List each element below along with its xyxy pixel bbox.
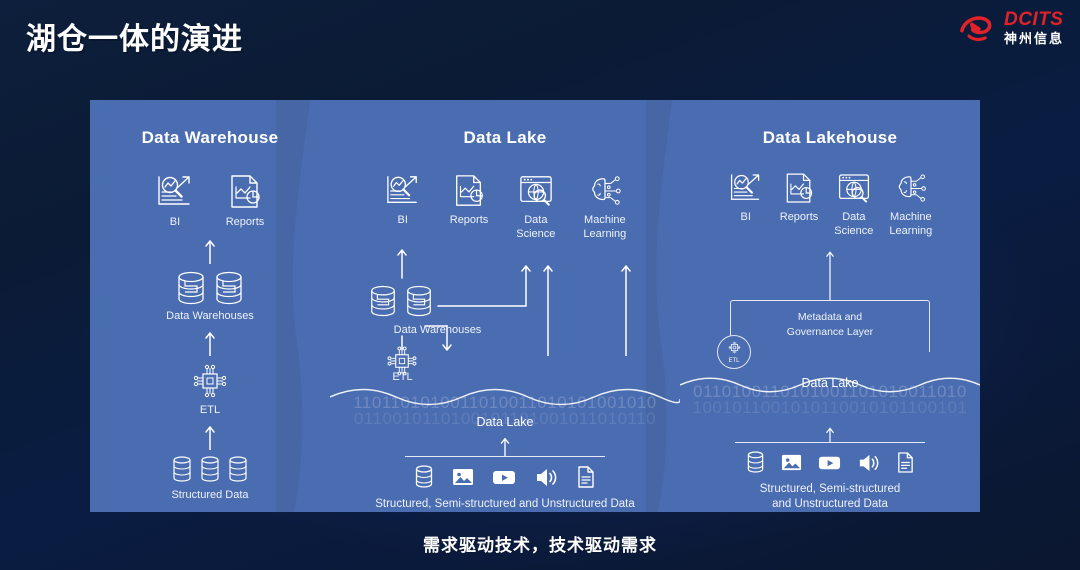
consumer-label: Reports <box>450 214 489 228</box>
lakehouse-evolution-diagram: Data Warehouse BI <box>90 100 980 512</box>
data-science-globe-icon <box>836 172 872 205</box>
etl-label-dw: ETL <box>200 404 220 416</box>
database-cylinder-icon <box>414 465 434 489</box>
source-caption-dl: Structured, Semi-structured and Unstruct… <box>375 497 635 512</box>
logo-cn-text: 神州信息 <box>1004 32 1064 45</box>
bi-chart-magnifier-icon <box>155 174 195 210</box>
audio-speaker-icon <box>534 465 558 489</box>
metadata-and-lake: Metadata and Governance Layer ETL <box>680 300 980 426</box>
metadata-line-1: Metadata and <box>747 310 913 325</box>
data-lake-water: 1101101010011010011010101001010 01100101… <box>330 387 680 435</box>
data-lake-connectors: Data Warehouses <box>330 244 680 343</box>
consumer-label: BI <box>741 211 751 225</box>
consumer-label: MachineLearning <box>889 211 932 239</box>
consumer-bi: BI <box>728 172 764 225</box>
storage-label-dl: Data Warehouses <box>330 324 545 336</box>
storage-label-dw: Data Warehouses <box>166 310 254 322</box>
etl-badge-label: ETL <box>728 357 739 366</box>
data-lake-water-dlh: 0110100110101001101010011010 10010110010… <box>680 376 980 426</box>
database-cylinder-icon <box>172 456 192 482</box>
database-stack-icon <box>368 284 398 318</box>
database-cylinder-icon <box>200 456 220 482</box>
etl-chip-icon <box>385 344 419 378</box>
consumer-bi: BI <box>384 174 422 228</box>
page-title: 湖仓一体的演进 <box>26 14 243 58</box>
report-document-icon <box>450 174 488 208</box>
document-icon <box>576 465 596 489</box>
metadata-line-2: Governance Layer <box>747 325 913 340</box>
lake-label-dlh: Data Lake <box>680 376 980 390</box>
column-title-data-lakehouse: Data Lakehouse <box>763 128 898 148</box>
arrow-up-icon <box>204 330 216 356</box>
consumer-label: MachineLearning <box>583 214 626 242</box>
database-cylinder-icon <box>746 451 765 474</box>
footer-tagline: 需求驱动技术，技术驱动需求 <box>0 531 1080 556</box>
consumer-machine-learning: MachineLearning <box>889 172 932 239</box>
consumer-label: DataScience <box>834 211 873 239</box>
consumer-label: Reports <box>226 216 265 230</box>
video-icon <box>818 451 841 474</box>
source-caption-dlh-line1: Structured, Semi-structured <box>760 482 901 497</box>
metadata-governance-box: Metadata and Governance Layer ETL <box>730 300 930 352</box>
database-stack-icon <box>213 270 245 306</box>
arrow-up-icon <box>204 238 216 264</box>
consumer-reports: Reports <box>450 174 489 228</box>
column-data-lakehouse: Data Lakehouse BI <box>680 100 980 512</box>
etl-chip-icon <box>191 362 229 400</box>
source-caption-dlh-line2: and Unstructured Data <box>772 497 888 512</box>
source-bar-dl <box>405 456 605 457</box>
consumer-label: DataScience <box>516 214 555 242</box>
arrow-up-icon <box>824 426 836 442</box>
image-icon <box>452 465 474 489</box>
consumer-data-science: DataScience <box>834 172 873 239</box>
etl-badge: ETL <box>717 335 751 369</box>
consumer-label: Reports <box>780 211 819 225</box>
arrow-up-icon <box>204 424 216 450</box>
machine-learning-brain-icon <box>893 172 929 205</box>
consumer-icons-dlh: BI Reports <box>728 172 933 239</box>
consumer-reports: Reports <box>780 172 819 225</box>
consumer-machine-learning: MachineLearning <box>583 174 626 242</box>
report-document-icon <box>225 174 265 210</box>
column-title-data-warehouse: Data Warehouse <box>142 128 279 148</box>
source-icons-dw <box>172 456 248 482</box>
storage-icons-dw <box>175 270 245 306</box>
source-bar-dlh <box>735 442 925 443</box>
consumer-icons-dw: BI Reports <box>155 174 265 230</box>
bi-chart-magnifier-icon <box>384 174 422 208</box>
report-document-icon <box>781 172 817 205</box>
brand-logo: DCITS 神州信息 <box>958 10 1064 45</box>
consumer-bi: BI <box>155 174 195 230</box>
consumer-icons-dl: BI Reports <box>384 174 627 242</box>
source-icons-dl <box>414 465 596 489</box>
etl-chip-icon <box>726 339 743 356</box>
column-data-lake: Data Lake BI <box>330 100 680 512</box>
database-cylinder-icon <box>228 456 248 482</box>
document-icon <box>896 451 915 474</box>
bi-chart-magnifier-icon <box>728 172 764 205</box>
consumer-reports: Reports <box>225 174 265 230</box>
machine-learning-brain-icon <box>586 174 624 208</box>
database-stack-icon <box>404 284 434 318</box>
source-icons-dlh <box>746 451 915 474</box>
source-caption-dw: Structured Data <box>171 488 248 502</box>
consumer-label: BI <box>398 214 408 228</box>
data-science-globe-icon <box>517 174 555 208</box>
storage-icons-dl <box>368 284 434 318</box>
column-title-data-lake: Data Lake <box>463 128 546 148</box>
arrow-up-icon <box>499 436 511 455</box>
database-stack-icon <box>175 270 207 306</box>
logo-en-text: DCITS <box>1004 10 1064 29</box>
audio-speaker-icon <box>857 451 880 474</box>
lake-label-dl: Data Lake <box>330 415 680 429</box>
consumer-label: BI <box>170 216 180 230</box>
arrow-up-icon <box>824 249 836 300</box>
consumer-data-science: DataScience <box>516 174 555 242</box>
video-icon <box>492 465 516 489</box>
image-icon <box>781 451 802 474</box>
dcits-swirl-icon <box>958 11 998 45</box>
column-data-warehouse: Data Warehouse BI <box>90 100 330 512</box>
